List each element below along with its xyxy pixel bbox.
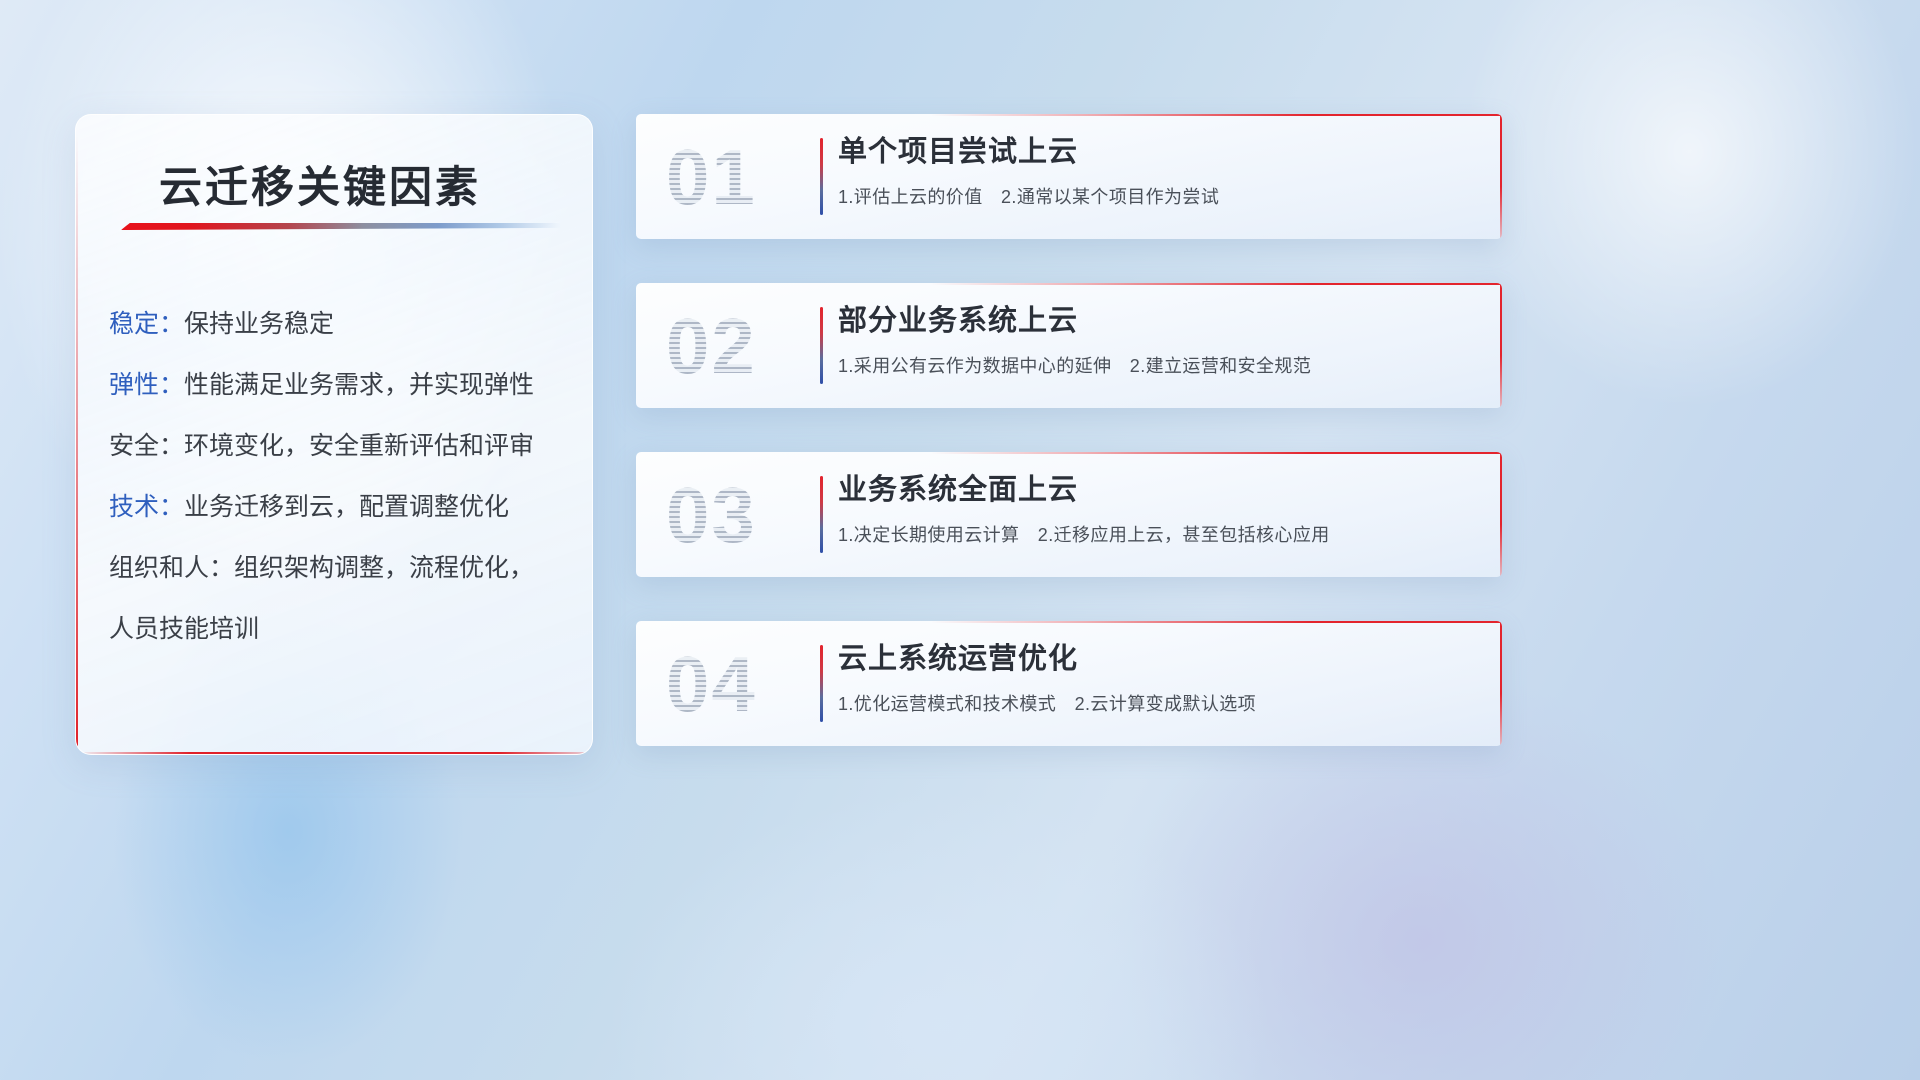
stage-number: 04 xyxy=(666,645,757,723)
stage-card[interactable]: 0101单个项目尝试上云1.评估上云的价值 2.通常以某个项目作为尝试 xyxy=(636,114,1502,239)
factor-item: 人员技能培训 xyxy=(109,617,570,642)
stage-title: 单个项目尝试上云 xyxy=(838,136,1478,169)
stage-body: 云上系统运营优化1.优化运营模式和技术模式 2.云计算变成默认选项 xyxy=(838,643,1478,716)
factor-text: 组织架构调整，流程优化， xyxy=(234,554,534,582)
background-glow-bottom xyxy=(499,713,1382,1080)
title-underline-gradient xyxy=(121,223,561,230)
card-top-accent-line xyxy=(636,283,1502,285)
stage-number: 03 xyxy=(666,476,757,554)
card-right-accent-line xyxy=(1500,621,1502,746)
stage-divider-line xyxy=(820,138,823,215)
factor-label: 组织和人： xyxy=(109,554,234,582)
factor-label: 技术： xyxy=(109,493,184,521)
key-factors-card: 云迁移关键因素 稳定：保持业务稳定弹性：性能满足业务需求，并实现弹性安全：环境变… xyxy=(75,114,593,755)
card-top-accent-line xyxy=(636,452,1502,454)
stage-body: 业务系统全面上云1.决定长期使用云计算 2.迁移应用上云，甚至包括核心应用 xyxy=(838,474,1478,547)
stage-title: 部分业务系统上云 xyxy=(838,305,1478,338)
factor-item: 稳定：保持业务稳定 xyxy=(109,312,570,337)
stage-list: 0101单个项目尝试上云1.评估上云的价值 2.通常以某个项目作为尝试0202部… xyxy=(636,114,1502,746)
factor-item: 组织和人：组织架构调整，流程优化， xyxy=(109,556,570,581)
stage-description: 1.采用公有云作为数据中心的延伸 2.建立运营和安全规范 xyxy=(838,352,1478,378)
card-right-accent-line xyxy=(1500,114,1502,239)
card-right-accent-line xyxy=(1500,283,1502,408)
factor-text: 性能满足业务需求，并实现弹性 xyxy=(184,371,534,399)
stage-title: 业务系统全面上云 xyxy=(838,474,1478,507)
stage-body: 部分业务系统上云1.采用公有云作为数据中心的延伸 2.建立运营和安全规范 xyxy=(838,305,1478,378)
card-right-accent-line xyxy=(1500,452,1502,577)
stage-number: 02 xyxy=(666,307,757,385)
factor-text: 环境变化，安全重新评估和评审 xyxy=(184,432,534,460)
factor-item: 弹性：性能满足业务需求，并实现弹性 xyxy=(109,373,570,398)
factor-text: 保持业务稳定 xyxy=(184,310,334,338)
factor-text: 人员技能培训 xyxy=(109,615,259,643)
factor-item: 安全：环境变化，安全重新评估和评审 xyxy=(109,434,570,459)
stage-description: 1.决定长期使用云计算 2.迁移应用上云，甚至包括核心应用 xyxy=(838,521,1478,547)
factor-text: 业务迁移到云，配置调整优化 xyxy=(184,493,509,521)
stage-divider-line xyxy=(820,476,823,553)
stage-divider-line xyxy=(820,645,823,722)
stage-number: 01 xyxy=(666,138,757,216)
stage-description: 1.优化运营模式和技术模式 2.云计算变成默认选项 xyxy=(838,690,1478,716)
stage-description: 1.评估上云的价值 2.通常以某个项目作为尝试 xyxy=(838,183,1478,209)
factor-label: 弹性： xyxy=(109,371,184,399)
page-title: 云迁移关键因素 xyxy=(159,153,481,215)
stage-card[interactable]: 0202部分业务系统上云1.采用公有云作为数据中心的延伸 2.建立运营和安全规范 xyxy=(636,283,1502,408)
stage-divider-line xyxy=(820,307,823,384)
factor-list: 稳定：保持业务稳定弹性：性能满足业务需求，并实现弹性安全：环境变化，安全重新评估… xyxy=(109,312,570,642)
stage-title: 云上系统运营优化 xyxy=(838,643,1478,676)
stage-body: 单个项目尝试上云1.评估上云的价值 2.通常以某个项目作为尝试 xyxy=(838,136,1478,209)
factor-label: 安全： xyxy=(109,432,184,460)
card-top-accent-line xyxy=(636,114,1502,116)
factor-label: 稳定： xyxy=(109,310,184,338)
factor-item: 技术：业务迁移到云，配置调整优化 xyxy=(109,495,570,520)
stage-card[interactable]: 0303业务系统全面上云1.决定长期使用云计算 2.迁移应用上云，甚至包括核心应… xyxy=(636,452,1502,577)
card-top-accent-line xyxy=(636,621,1502,623)
stage-card[interactable]: 0404云上系统运营优化1.优化运营模式和技术模式 2.云计算变成默认选项 xyxy=(636,621,1502,746)
